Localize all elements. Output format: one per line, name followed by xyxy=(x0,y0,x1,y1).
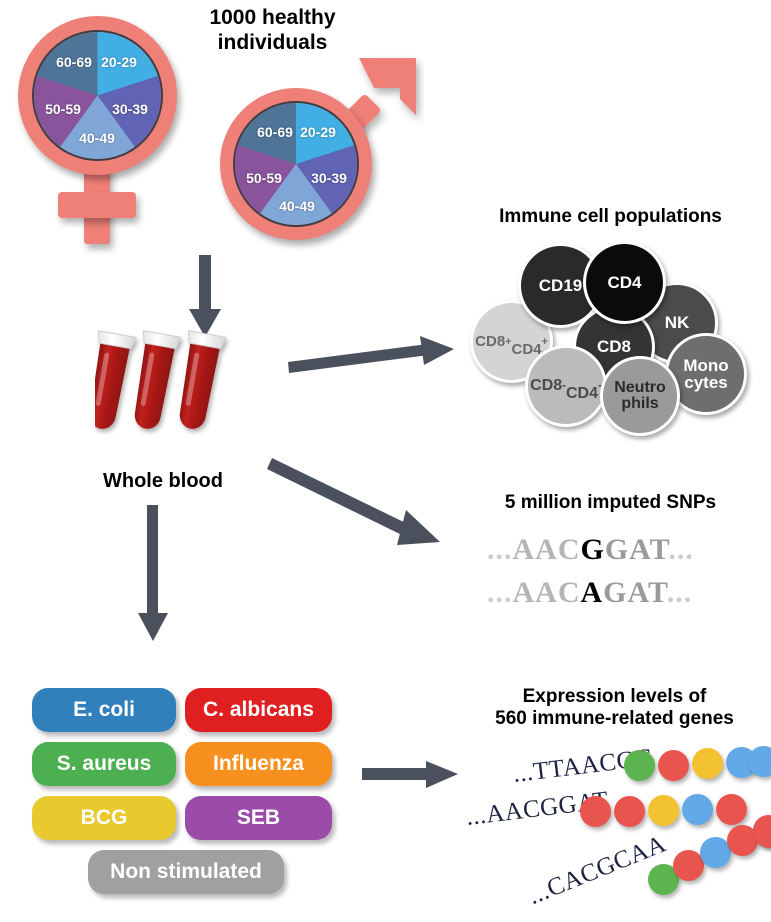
expression-bead xyxy=(614,796,645,827)
female-gender-symbol: 20-29 30-39 40-49 50-59 60-69 xyxy=(18,16,190,246)
female-symbol-crossbar xyxy=(58,192,136,218)
female-slice-label-20-29: 20-29 xyxy=(101,54,137,70)
expression-bead xyxy=(682,794,713,825)
expression-strand-3: ...CACGCAA xyxy=(430,825,771,915)
male-slice-label-60-69: 60-69 xyxy=(257,124,293,140)
male-slice-label-40-49: 40-49 xyxy=(279,198,315,214)
female-slice-label-50-59: 50-59 xyxy=(45,101,81,117)
arrow-blood-to-immune xyxy=(288,336,458,376)
snp-sequence-row-1: ...AACGGAT... xyxy=(487,533,694,567)
female-slice-label-60-69: 60-69 xyxy=(56,54,92,70)
whole-blood-label: Whole blood xyxy=(83,470,243,494)
snp-after-2: GAT xyxy=(603,576,667,609)
expression-bead xyxy=(748,746,771,777)
snp-prefix-2: ... xyxy=(487,576,513,609)
stimulus-non-stimulated[interactable]: Non stimulated xyxy=(88,850,284,894)
expression-bead xyxy=(716,794,747,825)
expression-strand-3-sequence: ...CACGCAA xyxy=(525,830,671,911)
stimulus-seb[interactable]: SEB xyxy=(185,796,332,840)
male-slice-label-50-59: 50-59 xyxy=(246,170,282,186)
stimulus-bcg[interactable]: BCG xyxy=(32,796,176,840)
snp-after-1: GAT xyxy=(605,533,669,566)
snp-sequence-row-2: ...AACAGAT... xyxy=(487,576,692,610)
arrow-blood-to-stimuli xyxy=(133,505,173,645)
immune-populations-title: Immune cell populations xyxy=(450,206,771,228)
figure-canvas: 1000 healthy individuals 20-29 30-39 40-… xyxy=(0,0,771,922)
snp-prefix-1: ... xyxy=(487,533,513,566)
stimulus-e-coli[interactable]: E. coli xyxy=(32,688,176,732)
snp-suffix-2: ... xyxy=(667,576,693,609)
snp-before-2: AAC xyxy=(513,576,581,609)
snp-variant-1: G xyxy=(581,533,605,566)
snps-title: 5 million imputed SNPs xyxy=(450,492,771,514)
immune-cell-cd4pos: CD4 xyxy=(583,241,666,324)
blood-tubes-icon xyxy=(95,328,235,453)
stimulus-influenza[interactable]: Influenza xyxy=(185,742,332,786)
immune-cell-cd8neg-cd4neg: CD8-CD4- xyxy=(525,345,607,427)
cohort-title: 1000 healthy individuals xyxy=(170,6,375,56)
female-slice-label-40-49: 40-49 xyxy=(79,130,115,146)
snp-suffix-1: ... xyxy=(668,533,694,566)
immune-cell-cluster: CD8+CD4+ NK CD19 CD4 CD8 Monocytes CD8-C… xyxy=(460,240,771,420)
immune-cell-neutrophils: Neutrophils xyxy=(600,356,680,436)
expression-bead xyxy=(624,750,655,781)
stimulus-s-aureus[interactable]: S. aureus xyxy=(32,742,176,786)
expression-title: Expression levels of 560 immune-related … xyxy=(458,686,771,731)
male-gender-symbol: 20-29 30-39 40-49 50-59 60-69 xyxy=(206,62,426,262)
snp-before-1: AAC xyxy=(513,533,581,566)
expression-bead xyxy=(648,795,679,826)
female-slice-label-30-39: 30-39 xyxy=(112,101,148,117)
male-slice-label-20-29: 20-29 xyxy=(300,124,336,140)
male-slice-label-30-39: 30-39 xyxy=(311,170,347,186)
expression-strands: ...TTAACGG ...AACGGAT ...CACGCAA xyxy=(430,745,771,922)
arrow-blood-to-snps xyxy=(272,450,452,555)
snp-variant-2: A xyxy=(581,576,604,609)
expression-bead xyxy=(692,748,723,779)
expression-bead xyxy=(580,796,611,827)
stimulus-c-albicans[interactable]: C. albicans xyxy=(185,688,332,732)
expression-bead xyxy=(658,750,689,781)
